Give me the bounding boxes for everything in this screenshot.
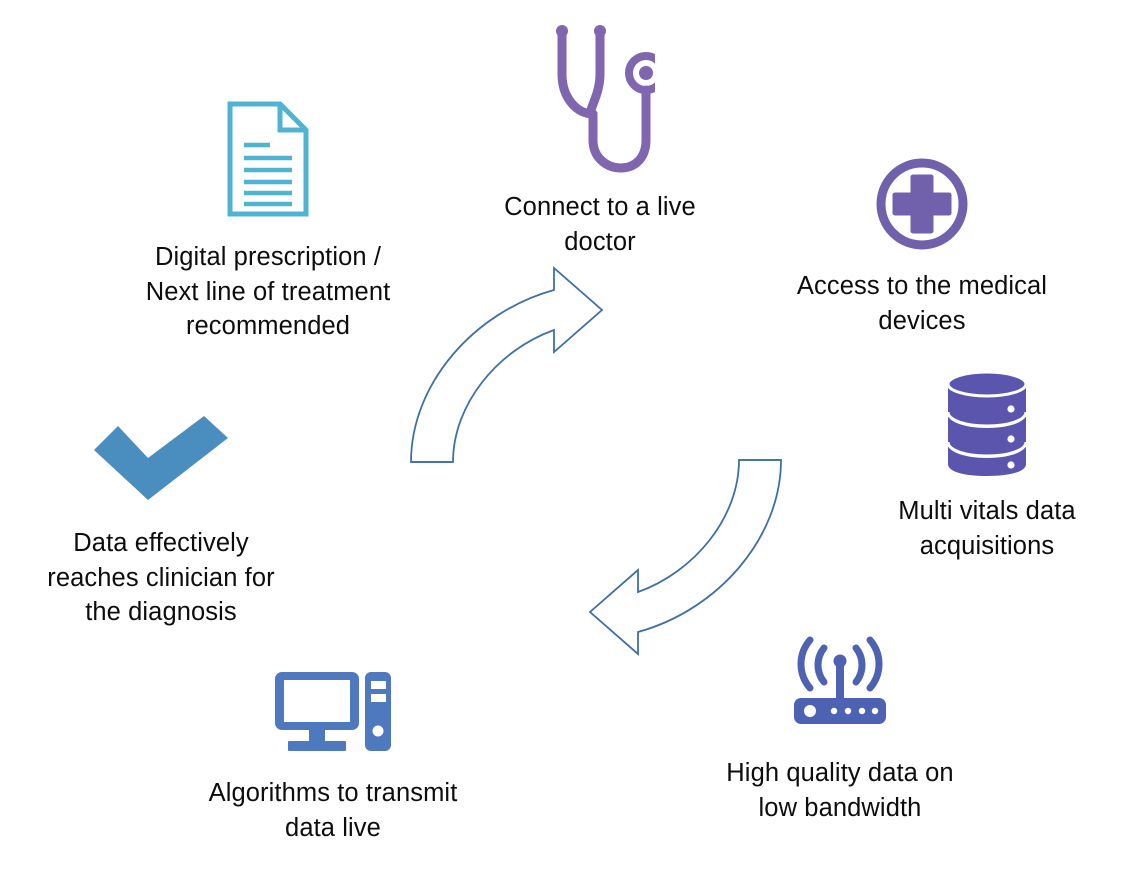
diagram-canvas: Connect to a live doctor Access to the m… — [0, 0, 1128, 884]
database-indicator-dot — [1007, 461, 1014, 468]
node-data-reaches-clinician: Data effectively reaches clinician for t… — [30, 412, 292, 630]
checkmark-icon — [88, 412, 234, 502]
stethoscope-ear-tip-right — [594, 25, 606, 37]
wireless-router-icon — [784, 630, 896, 728]
document-icon — [222, 100, 314, 218]
database-indicator-dot — [1007, 435, 1014, 442]
stethoscope-icon — [545, 18, 655, 178]
medical-plus-shape — [895, 177, 949, 231]
router-led — [845, 708, 851, 714]
computer-screen — [284, 680, 350, 722]
computer-monitor-stand — [309, 730, 325, 742]
computer-tower-drive-bay — [371, 681, 386, 689]
node-label-multi-vitals-data: Multi vitals data acquisitions — [898, 494, 1075, 563]
router-antenna-tip — [834, 655, 847, 668]
node-label-algorithms-transmit: Algorithms to transmit data live — [209, 776, 458, 845]
node-label-connect-to-doctor: Connect to a live doctor — [504, 190, 696, 259]
database-indicator-dot — [1007, 405, 1014, 412]
desktop-computer-icon — [272, 668, 394, 754]
node-label-access-medical-devices: Access to the medical devices — [797, 269, 1047, 338]
stethoscope-ear-tip-left — [556, 25, 568, 37]
node-connect-to-doctor: Connect to a live doctor — [455, 18, 745, 259]
node-high-quality-bandwidth: High quality data on low bandwidth — [700, 630, 980, 825]
cycle-arrows-graphic — [396, 266, 796, 656]
router-led-power — [804, 705, 816, 717]
database-icon — [942, 368, 1032, 476]
node-multi-vitals-data: Multi vitals data acquisitions — [862, 368, 1112, 563]
stethoscope-chestpiece-center — [639, 66, 653, 80]
cycle-arrow-counterclockwise — [590, 460, 781, 654]
medical-cross-circle-icon — [873, 155, 971, 253]
node-digital-prescription: Digital prescription / Next line of trea… — [118, 100, 418, 344]
node-label-data-reaches-clinician: Data effectively reaches clinician for t… — [47, 526, 274, 630]
node-algorithms-transmit: Algorithms to transmit data live — [188, 668, 478, 845]
computer-power-button — [373, 726, 384, 737]
router-led — [872, 708, 878, 714]
cycle-arrow-clockwise — [411, 268, 602, 462]
checkmark-shape — [94, 416, 228, 500]
computer-tower-drive-bay — [371, 694, 386, 702]
node-label-digital-prescription: Digital prescription / Next line of trea… — [146, 240, 391, 344]
computer-monitor-base — [288, 741, 346, 751]
node-access-medical-devices: Access to the medical devices — [778, 155, 1066, 338]
router-led — [859, 708, 865, 714]
node-label-high-quality-bandwidth: High quality data on low bandwidth — [726, 756, 953, 825]
router-led — [831, 708, 837, 714]
